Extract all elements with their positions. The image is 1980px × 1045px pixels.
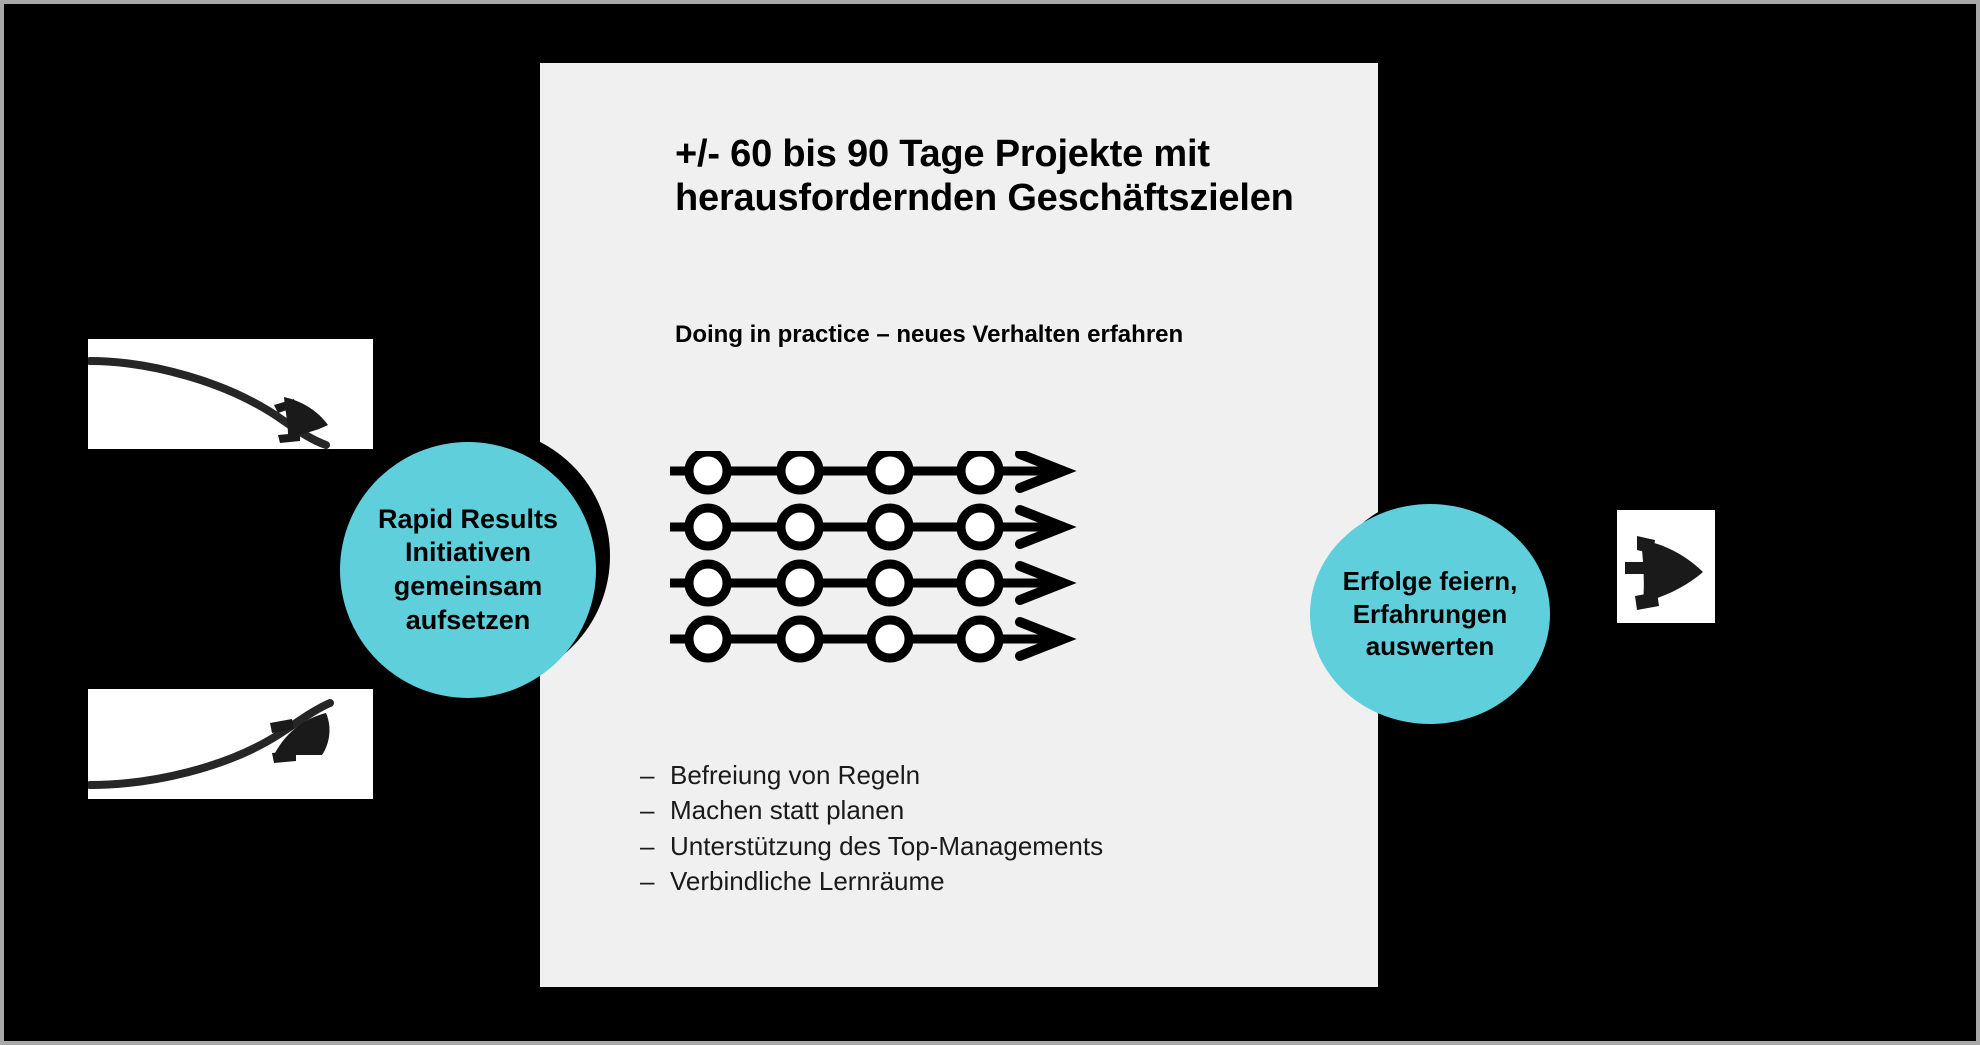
list-item-label: Unterstützung des Top-Managements xyxy=(670,831,1103,861)
bullet-dash-icon: – xyxy=(640,760,670,790)
bullet-dash-icon: – xyxy=(640,866,670,896)
slide-canvas: +/- 60 bis 90 Tage Projekte mit herausfo… xyxy=(0,0,1980,1045)
stage-circle-right[interactable]: Erfolge feiern, Erfahrungen auswerten xyxy=(1310,494,1570,724)
stage-circle-left[interactable]: Rapid Results Initiativen gemeinsam aufs… xyxy=(340,428,610,698)
list-item: – Verbindliche Lernräume xyxy=(640,866,1340,896)
bullet-dash-icon: – xyxy=(640,795,670,825)
hand-drawn-arrow-curve-down-icon xyxy=(88,339,373,449)
list-item: – Unterstützung des Top-Managements xyxy=(640,831,1340,861)
list-item: – Befreiung von Regeln xyxy=(640,760,1340,790)
list-item-label: Machen statt planen xyxy=(670,795,904,825)
circle-left-label: Rapid Results Initiativen gemeinsam aufs… xyxy=(340,442,596,698)
content-panel: +/- 60 bis 90 Tage Projekte mit herausfo… xyxy=(540,63,1378,987)
list-item-label: Befreiung von Regeln xyxy=(670,760,920,790)
bullet-list: – Befreiung von Regeln – Machen statt pl… xyxy=(640,760,1340,902)
bullet-dash-icon: – xyxy=(640,831,670,861)
panel-subtitle: Doing in practice – neues Verhalten erfa… xyxy=(675,320,1235,351)
hand-drawn-arrow-curve-up-icon xyxy=(88,689,373,799)
list-item-label: Verbindliche Lernräume xyxy=(670,866,945,896)
flow-diagram xyxy=(670,451,1170,681)
panel-title: +/- 60 bis 90 Tage Projekte mit herausfo… xyxy=(675,132,1295,221)
circle-right-label: Erfolge feiern, Erfahrungen auswerten xyxy=(1310,504,1550,724)
hand-drawn-arrowhead-icon xyxy=(1617,510,1715,623)
list-item: – Machen statt planen xyxy=(640,795,1340,825)
